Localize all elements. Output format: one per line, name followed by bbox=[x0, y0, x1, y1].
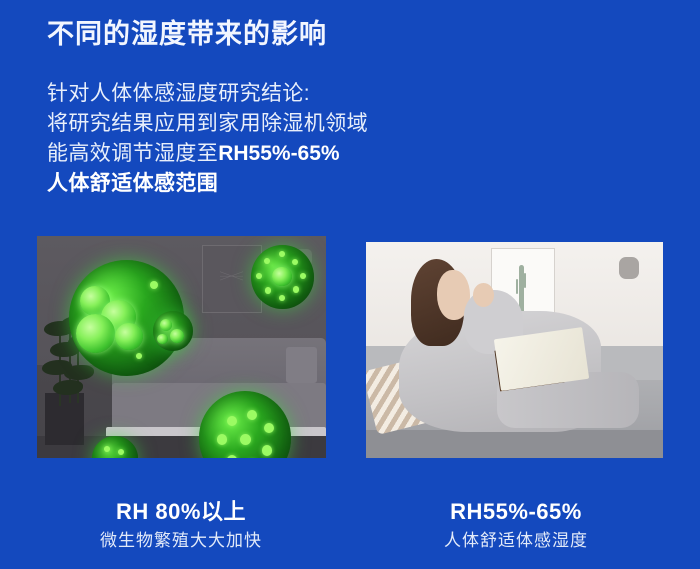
panel-high-humidity-photo bbox=[37, 236, 326, 458]
caption-sub-high-humidity: 微生物繁殖大大加快 bbox=[31, 528, 331, 554]
sofa-cushion bbox=[286, 347, 318, 383]
panel-comfort-humidity-photo bbox=[366, 242, 663, 458]
poster-root: 不同的湿度带来的影响 针对人体体感湿度研究结论: 将研究结果应用到家用除湿机领域… bbox=[0, 0, 700, 569]
caption-comfort-humidity: RH55%-65% 人体舒适体感湿度 bbox=[366, 498, 666, 554]
intro-line-3: 能高效调节湿度至RH55%-65% bbox=[47, 139, 467, 169]
caption-title-high-humidity: RH 80%以上 bbox=[31, 498, 331, 526]
sofa-base bbox=[366, 430, 663, 458]
intro-line-4: 人体舒适体感范围 bbox=[47, 169, 467, 199]
intro-line-1: 针对人体体感湿度研究结论: bbox=[47, 79, 467, 109]
intro-humidity-range: RH55%-65% bbox=[218, 142, 339, 165]
page-title: 不同的湿度带来的影响 bbox=[47, 18, 327, 52]
caption-sub-comfort-humidity: 人体舒适体感湿度 bbox=[366, 528, 666, 554]
intro-line-2: 将研究结果应用到家用除湿机领域 bbox=[47, 109, 467, 139]
caption-title-comfort-humidity: RH55%-65% bbox=[366, 498, 666, 526]
caption-high-humidity: RH 80%以上 微生物繁殖大大加快 bbox=[31, 498, 331, 554]
intro-line-3-prefix: 能高效调节湿度至 bbox=[47, 142, 218, 165]
intro-paragraph: 针对人体体感湿度研究结论: 将研究结果应用到家用除湿机领域 能高效调节湿度至RH… bbox=[47, 79, 467, 199]
comparison-panels bbox=[0, 236, 700, 458]
woman-hand bbox=[473, 283, 494, 307]
bright-living-room-scene bbox=[366, 242, 663, 458]
wall-knob-icon bbox=[619, 257, 639, 279]
dim-living-room-scene bbox=[37, 236, 326, 458]
